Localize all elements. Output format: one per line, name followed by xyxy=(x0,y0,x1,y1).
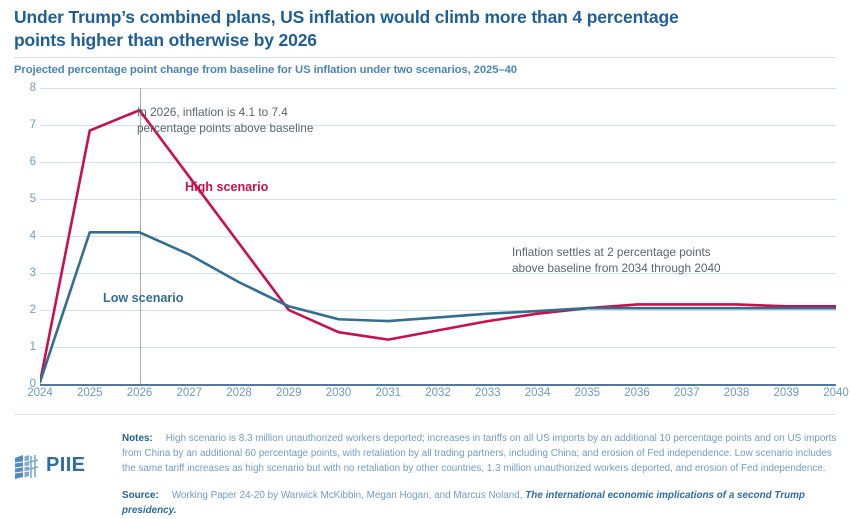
y-axis-labels: 012345678 xyxy=(14,88,36,384)
source-block: Source:Working Paper 24-20 by Warwick Mc… xyxy=(122,488,838,518)
x-tick-2027: 2027 xyxy=(176,387,202,399)
page-title: Under Trump’s combined plans, US inflati… xyxy=(14,6,714,52)
x-tick-2039: 2039 xyxy=(773,387,799,399)
x-tick-2030: 2030 xyxy=(326,387,352,399)
y-tick-8: 8 xyxy=(14,82,36,94)
piie-wordmark: PIIE xyxy=(46,454,85,477)
x-tick-2025: 2025 xyxy=(77,387,103,399)
annotation-settle: Inflation settles at 2 percentage points… xyxy=(512,244,721,277)
y-tick-6: 6 xyxy=(14,156,36,168)
y-tick-7: 7 xyxy=(14,119,36,131)
y-tick-4: 4 xyxy=(14,230,36,242)
x-tick-2028: 2028 xyxy=(226,387,252,399)
title-divider xyxy=(14,57,836,58)
x-axis-labels: 2024202520262027202820292030203120322033… xyxy=(40,387,836,407)
source-body: Working Paper 24-20 by Warwick McKibbin,… xyxy=(172,490,525,501)
chart-figure: Under Trump’s combined plans, US inflati… xyxy=(0,0,850,519)
x-tick-2038: 2038 xyxy=(724,387,750,399)
x-tick-2032: 2032 xyxy=(425,387,451,399)
source-key: Source: xyxy=(122,490,159,501)
x-tick-2040: 2040 xyxy=(823,387,849,399)
x-tick-2034: 2034 xyxy=(525,387,551,399)
annotation-peak: In 2026, inflation is 4.1 to 7.4 percent… xyxy=(137,104,313,137)
x-tick-2036: 2036 xyxy=(624,387,650,399)
y-tick-2: 2 xyxy=(14,304,36,316)
x-tick-2024: 2024 xyxy=(27,387,53,399)
x-tick-2029: 2029 xyxy=(276,387,302,399)
x-tick-2033: 2033 xyxy=(475,387,501,399)
y-tick-3: 3 xyxy=(14,267,36,279)
piie-logo: PIIE xyxy=(12,452,108,482)
x-tick-2026: 2026 xyxy=(127,387,153,399)
y-tick-1: 1 xyxy=(14,341,36,353)
x-tick-2037: 2037 xyxy=(674,387,700,399)
notes-key: Notes: xyxy=(122,433,153,444)
series-label-high: High scenario xyxy=(185,180,268,194)
footer-divider xyxy=(14,414,836,415)
notes-body: High scenario is 8.3 million unauthorize… xyxy=(122,433,836,474)
x-tick-2035: 2035 xyxy=(574,387,600,399)
gridline-0 xyxy=(40,384,836,386)
piie-building-icon xyxy=(12,452,42,480)
notes-block: Notes:High scenario is 8.3 million unaut… xyxy=(122,431,838,476)
y-tick-5: 5 xyxy=(14,193,36,205)
chart-subtitle: Projected percentage point change from b… xyxy=(14,64,774,76)
series-label-low: Low scenario xyxy=(103,291,183,305)
x-tick-2031: 2031 xyxy=(375,387,401,399)
